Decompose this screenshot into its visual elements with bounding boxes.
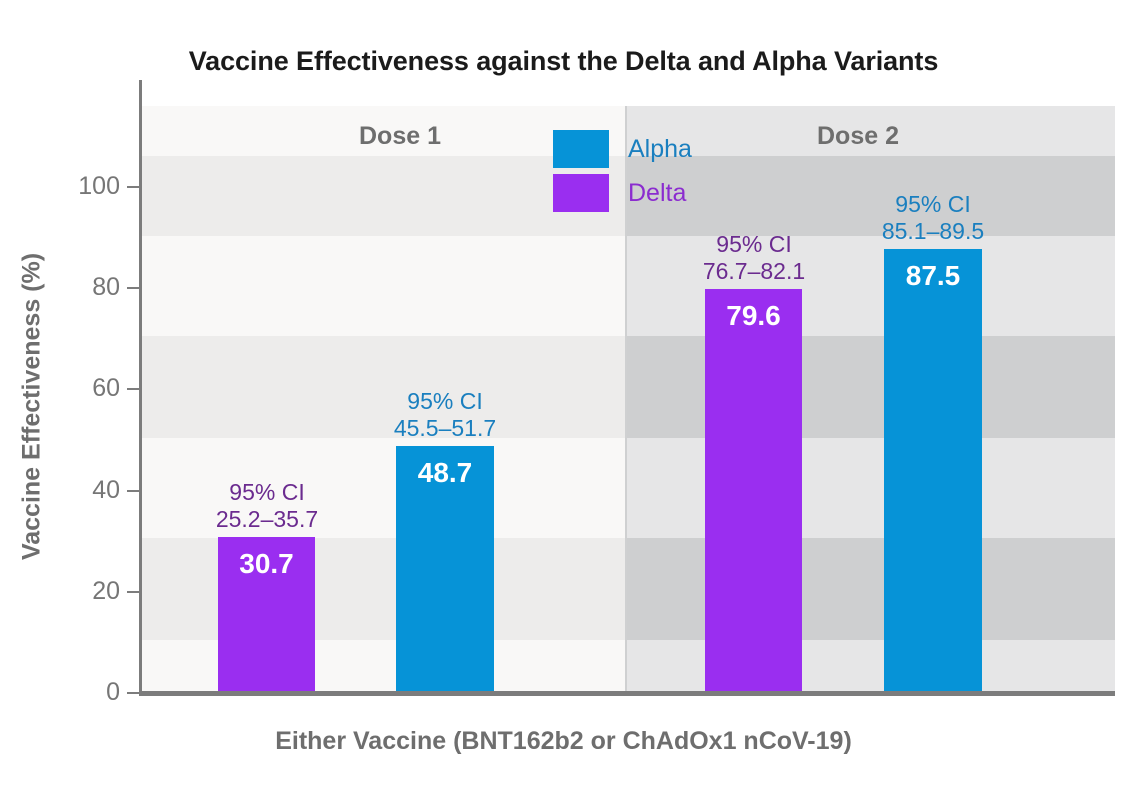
ci-range: 85.1–89.5 xyxy=(833,218,1033,245)
ci-label-dose2-delta: 95% CI 76.7–82.1 xyxy=(654,231,854,285)
ci-range: 25.2–35.7 xyxy=(167,506,367,533)
bar-value-dose1-alpha: 48.7 xyxy=(396,457,494,489)
ci-range: 76.7–82.1 xyxy=(654,258,854,285)
vaccine-effectiveness-chart: Vaccine Effectiveness against the Delta … xyxy=(0,0,1127,801)
ci-title: 95% CI xyxy=(654,231,854,258)
ci-range: 45.5–51.7 xyxy=(345,415,545,442)
bar-dose1-delta[interactable]: 30.7 xyxy=(218,537,315,693)
panel-heading-dose2: Dose 2 xyxy=(748,122,968,151)
bar-dose1-alpha[interactable]: 48.7 xyxy=(396,446,494,693)
y-axis-line xyxy=(139,80,142,694)
legend: Alpha Delta xyxy=(553,127,753,215)
x-axis-line xyxy=(139,691,1115,696)
y-tick-mark xyxy=(127,490,139,492)
y-axis-title: Vaccine Effectiveness (%) xyxy=(18,127,47,687)
ci-title: 95% CI xyxy=(345,388,545,415)
ci-title: 95% CI xyxy=(167,479,367,506)
ci-label-dose1-alpha: 95% CI 45.5–51.7 xyxy=(345,388,545,442)
panel-heading-dose1: Dose 1 xyxy=(290,122,510,151)
y-tick-mark xyxy=(127,186,139,188)
legend-swatch-alpha xyxy=(553,130,609,168)
ci-label-dose1-delta: 95% CI 25.2–35.7 xyxy=(167,479,367,533)
bar-value-dose2-delta: 79.6 xyxy=(705,300,802,332)
legend-label-alpha: Alpha xyxy=(628,135,692,164)
y-tick-mark xyxy=(127,287,139,289)
legend-label-delta: Delta xyxy=(628,179,686,208)
ci-label-dose2-alpha: 95% CI 85.1–89.5 xyxy=(833,191,1033,245)
bar-value-dose2-alpha: 87.5 xyxy=(884,260,982,292)
legend-item-delta[interactable]: Delta xyxy=(553,171,753,215)
x-axis-title: Either Vaccine (BNT162b2 or ChAdOx1 nCoV… xyxy=(0,727,1127,756)
bar-dose2-alpha[interactable]: 87.5 xyxy=(884,249,982,693)
bar-dose2-delta[interactable]: 79.6 xyxy=(705,289,802,693)
ci-title: 95% CI xyxy=(833,191,1033,218)
legend-item-alpha[interactable]: Alpha xyxy=(553,127,753,171)
page-title: Vaccine Effectiveness against the Delta … xyxy=(0,46,1127,77)
y-tick-mark xyxy=(127,692,139,694)
y-tick-mark xyxy=(127,388,139,390)
bar-value-dose1-delta: 30.7 xyxy=(218,548,315,580)
legend-swatch-delta xyxy=(553,174,609,212)
y-tick-mark xyxy=(127,591,139,593)
